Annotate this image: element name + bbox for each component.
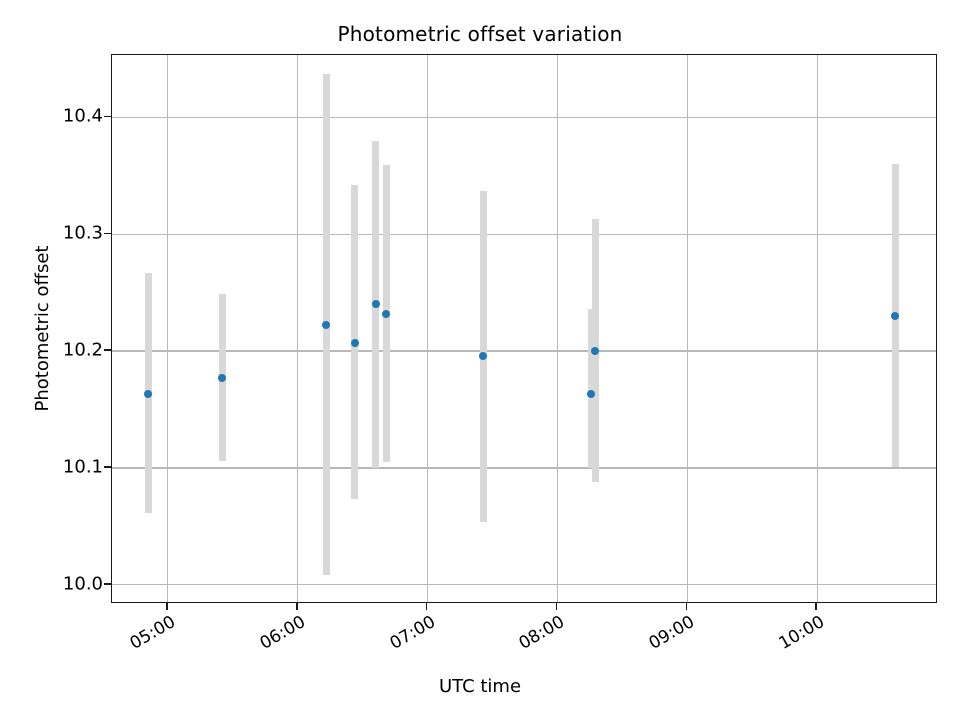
x-tick-label: 06:00 — [248, 612, 308, 658]
x-axis-label: UTC time — [0, 676, 960, 697]
plot-area — [111, 54, 937, 603]
y-tick-mark — [104, 583, 111, 585]
y-tick-label: 10.2 — [63, 340, 103, 361]
x-tick-label: 08:00 — [508, 612, 568, 658]
gridline-vertical — [817, 55, 818, 602]
y-tick-mark — [104, 116, 111, 118]
y-axis-tick-labels: 10.010.110.210.310.4 — [0, 0, 103, 720]
gridline-vertical — [427, 55, 428, 602]
x-tick-mark — [426, 603, 428, 610]
y-tick-label: 10.3 — [63, 223, 103, 244]
gridline-horizontal — [112, 350, 936, 351]
x-tick-label: 10:00 — [768, 612, 828, 658]
gridline-vertical — [557, 55, 558, 602]
gridline-horizontal — [112, 234, 936, 235]
x-tick-mark — [166, 603, 168, 610]
y-tick-mark — [104, 233, 111, 235]
gridline-horizontal — [112, 117, 936, 118]
gridline-vertical — [167, 55, 168, 602]
data-point — [351, 339, 359, 347]
y-tick-mark — [104, 466, 111, 468]
x-tick-mark — [296, 603, 298, 610]
gridline-horizontal — [112, 467, 936, 468]
gridline-horizontal — [112, 584, 936, 585]
x-tick-label: 09:00 — [638, 612, 698, 658]
x-tick-mark — [556, 603, 558, 610]
gridline-vertical — [687, 55, 688, 602]
y-tick-label: 10.0 — [63, 573, 103, 594]
y-tick-mark — [104, 349, 111, 351]
page-title: Photometric offset variation — [0, 22, 960, 46]
x-tick-label: 05:00 — [119, 612, 179, 658]
y-tick-label: 10.4 — [63, 106, 103, 127]
x-tick-mark — [686, 603, 688, 610]
y-tick-label: 10.1 — [63, 456, 103, 477]
x-tick-mark — [815, 603, 817, 610]
figure: Photometric offset variation Photometric… — [0, 0, 960, 720]
x-tick-label: 07:00 — [378, 612, 438, 658]
gridline-vertical — [297, 55, 298, 602]
data-point — [382, 310, 390, 318]
